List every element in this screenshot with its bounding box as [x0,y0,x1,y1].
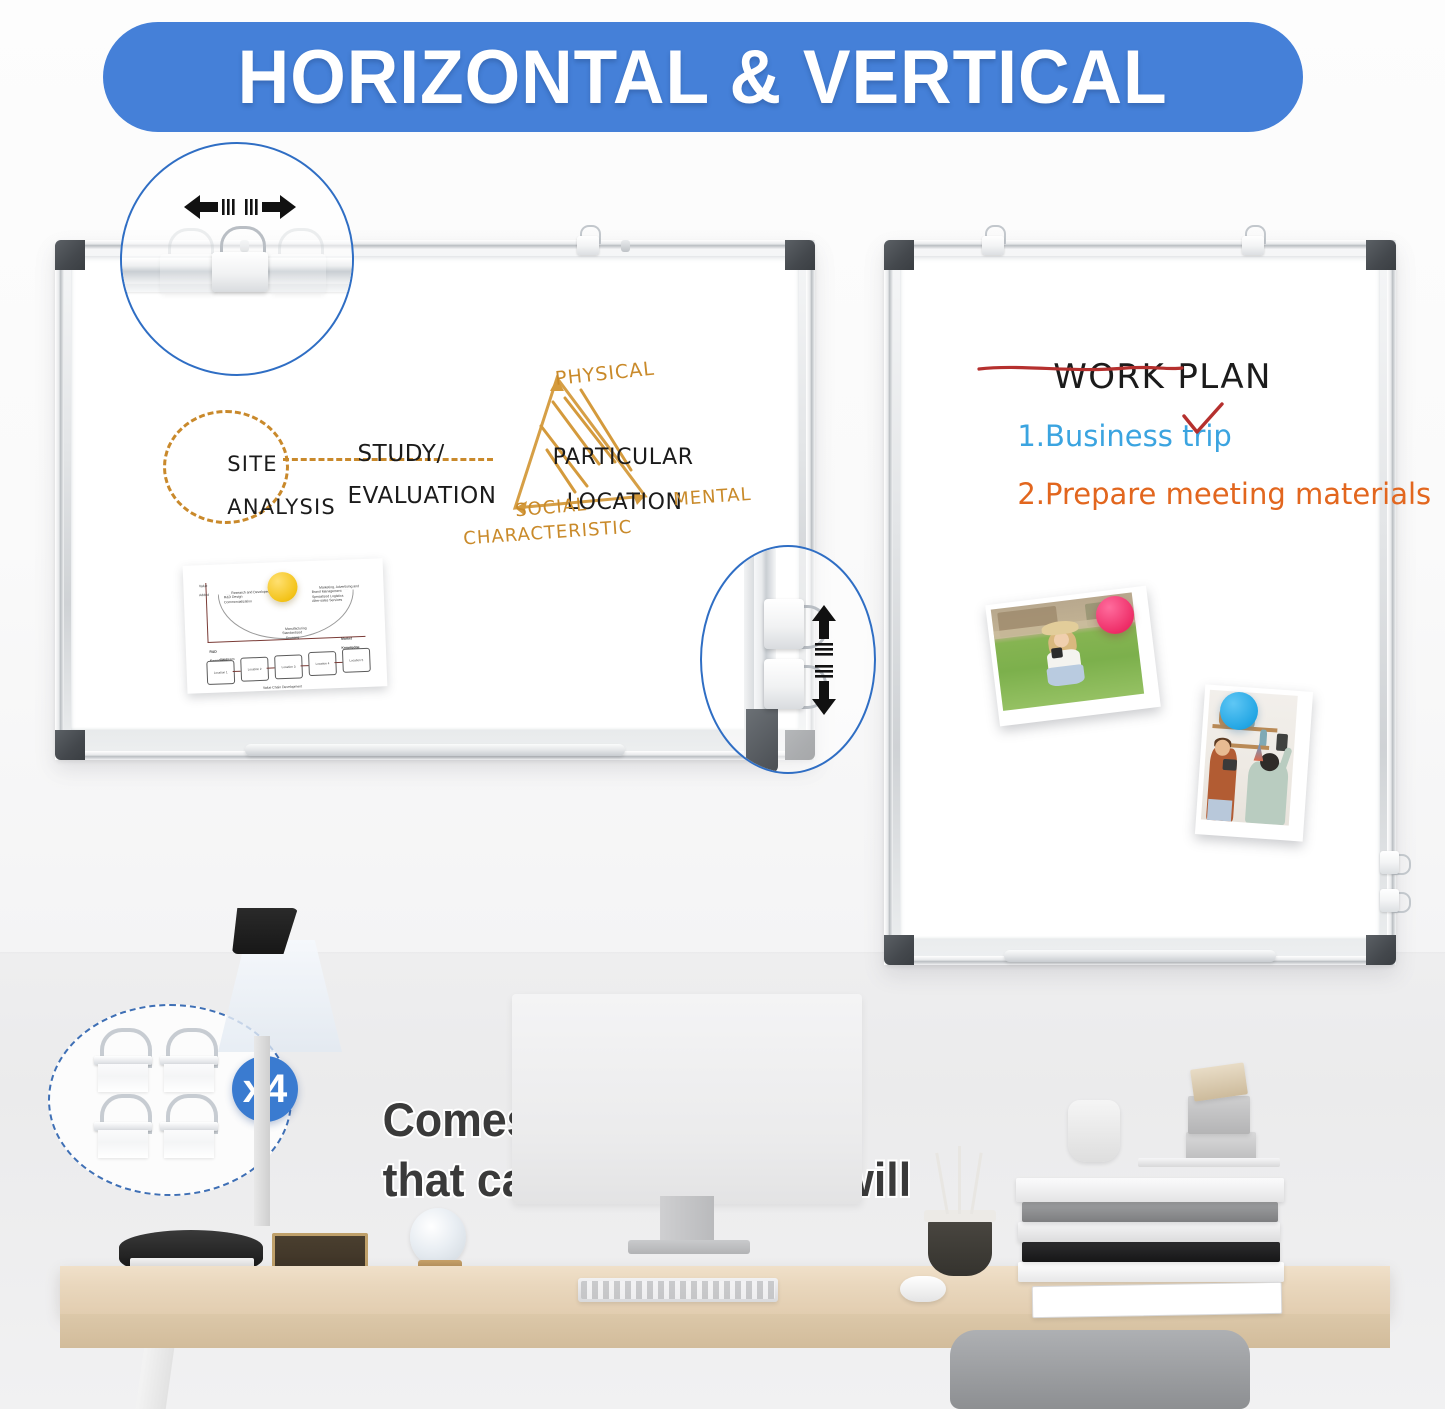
book-stack-right-2 [1022,1242,1280,1262]
flow-step: Location 5 [342,648,371,673]
pen-tray [245,744,625,756]
site-line1: SITE [227,452,277,476]
flow-step-label: Location 2 [248,667,262,672]
hook-body [164,1130,214,1158]
photo-person-left-camera [1222,758,1237,771]
corner-cap-top-right [785,240,815,270]
monitor [512,994,862,1204]
banner-title: HORIZONTAL & VERTICAL [238,34,1168,121]
flow-step: Location 3 [274,654,303,679]
flow-step: Location 2 [240,657,269,682]
hook-body [160,254,216,294]
side-rail-hook-upper[interactable] [1380,850,1410,876]
flow-arrow [301,665,309,666]
product-feature-image: HORIZONTAL & VERTICAL SITE ANALYSIS ST [0,0,1445,1409]
detail-hook-lower[interactable] [764,659,804,709]
shelf-plate [1138,1158,1280,1167]
chair [950,1330,1250,1409]
top-rail-hook-left[interactable] [980,225,1006,255]
hook-body [270,254,326,294]
photo-person [1041,620,1085,687]
work-plan-item-2-text: 2.Prepare meeting materials [1017,477,1431,511]
corner-cap-top-right [1366,240,1396,270]
factor-characteristic: CHARACTERISTIC [463,517,633,550]
top-rail [884,240,1396,249]
detail-hook-active[interactable] [212,226,268,292]
note-left-text: Research and Developed R&D Design Commer… [224,589,270,604]
book-stack-right-5 [1016,1178,1284,1202]
y-label-2: Added [199,593,209,597]
chart-note-center: Manufacturing Standardized Sourcing [271,621,314,646]
corner-cap-top-left [55,240,85,270]
work-plan-item-2: 2.Prepare meeting materials [962,450,1431,539]
hook-body [764,599,804,649]
hook-body [1242,236,1264,255]
pinned-paper-chart[interactable]: Value Added R&D Knowledge Market Knowled… [183,558,388,694]
keyboard[interactable] [578,1278,778,1302]
flow-step-label: Location 1 [214,670,228,675]
magnet-blue[interactable] [1220,692,1258,730]
flow-step-label: Location 3 [282,665,296,670]
detail-hook-upper[interactable] [764,599,804,649]
x-right-1: Market [341,636,352,640]
hook-icon-4 [158,1094,220,1158]
lamp-pole [254,1036,270,1226]
note-right-text: Marketing, Advertising and Brand Managem… [312,584,359,604]
handwriting-mental: MENTAL [631,468,753,531]
hook-ghost [270,228,326,294]
detail-hook-ghost-left [160,228,216,294]
hook-icon-2 [158,1028,220,1092]
hook-icon-1 [92,1028,154,1092]
hook-body [164,1064,214,1092]
hook-body [1380,851,1399,874]
vertical-arrows-icon [807,605,841,715]
mouse[interactable] [900,1276,946,1302]
corner-cap-bottom-left [55,730,85,760]
top-rail-hook-right[interactable] [1240,225,1266,255]
hook-body [577,236,599,255]
reed-stick-2 [958,1146,961,1214]
factor-mental: MENTAL [673,484,753,510]
book-stack-right-1 [1018,1262,1284,1282]
hook-body [212,252,268,292]
side-rail-hook-detail [700,545,876,774]
pen-tray-cap-right [621,240,630,252]
book-stack-right-4 [1022,1202,1278,1222]
detail-corner-cap [746,709,778,773]
target-line1: PARTICULAR [553,445,694,470]
photo-jeans [1047,663,1086,686]
side-rail-hook-lower[interactable] [1380,888,1410,914]
reed-diffuser-pot [928,1218,992,1276]
magnet-pink[interactable] [1096,596,1134,634]
top-rail-hook-center[interactable] [575,225,601,255]
hook-ghost [160,228,216,294]
book-stack-right-3 [1018,1222,1280,1242]
pen-tray [1004,950,1276,962]
chart-y-axis-label: Value Added [191,579,218,603]
corner-cap-bottom-left [884,935,914,965]
hook-body [98,1130,148,1158]
photo-person-left-jeans [1207,799,1232,821]
factor-physical: PHYSICAL [554,358,656,390]
chart-note-left: Research and Developed R&D Design Commer… [223,584,272,609]
left-rail [884,240,893,965]
monitor-stand [628,1240,750,1254]
photo-woman-with-camera[interactable] [985,586,1161,727]
left-rail [55,240,64,760]
flow-arrow [267,667,275,668]
work-plan-underline [976,362,1186,376]
flow-arrow [334,662,342,663]
storage-box-upper [1188,1096,1250,1134]
flow-step-label: Location 5 [349,658,363,663]
flow-step: Location 4 [308,651,337,676]
title-banner: HORIZONTAL & VERTICAL [103,22,1303,132]
keyboard-keys [581,1281,775,1299]
decor-orb [410,1208,466,1266]
hook-body [1380,889,1399,912]
photo-camera [1051,647,1063,658]
hook-body [982,236,1004,255]
corner-cap-top-left [884,240,914,270]
vertical-whiteboard: WORK PLAN 1.Business trip 2.Prepare meet… [884,240,1396,965]
mug [1068,1100,1120,1162]
horizontal-arrows-icon [184,192,296,222]
top-rail-hook-detail [120,142,354,376]
flow-step-label: Location 4 [315,661,329,666]
note-center-text: Manufacturing Standardized Sourcing [282,626,306,640]
hook-body [764,659,804,709]
y-label-1: Value [199,584,208,588]
flow-arrow [233,671,241,672]
detail-hook-ghost-right [270,228,326,294]
notepad [1032,1282,1283,1318]
flow-caption-text: Value Chain Development [263,684,302,690]
hook-body [98,1064,148,1092]
corner-cap-bottom-right [1366,935,1396,965]
monitor-neck [660,1196,714,1244]
checkmark-icon [1180,402,1226,438]
chart-note-right: Marketing, Advertising and Brand Managem… [311,579,372,609]
hook-icon-3 [92,1094,154,1158]
flow-step: Location 1 [206,660,235,685]
